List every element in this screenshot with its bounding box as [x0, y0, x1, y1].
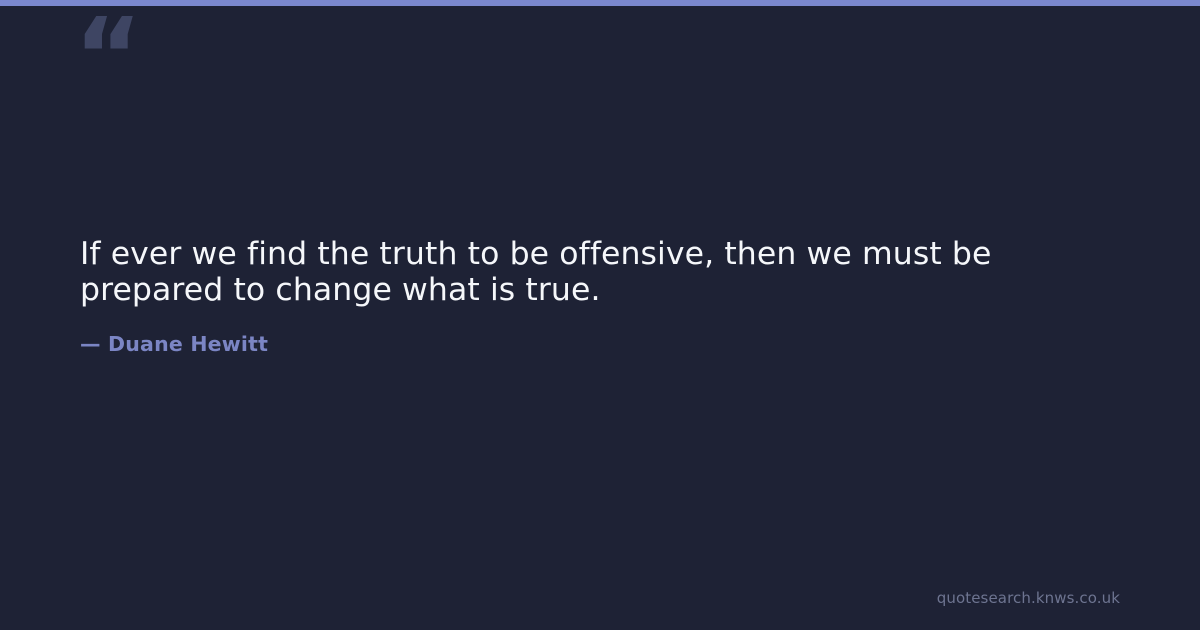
site-watermark: quotesearch.knws.co.uk [937, 589, 1120, 607]
quote-text: If ever we find the truth to be offensiv… [80, 236, 1040, 308]
quote-attribution: — Duane Hewitt [80, 308, 1040, 357]
double-quote-icon: “ [74, 0, 194, 116]
quote-card: “ If ever we find the truth to be offens… [0, 0, 1200, 630]
quote-content: If ever we find the truth to be offensiv… [80, 236, 1040, 357]
